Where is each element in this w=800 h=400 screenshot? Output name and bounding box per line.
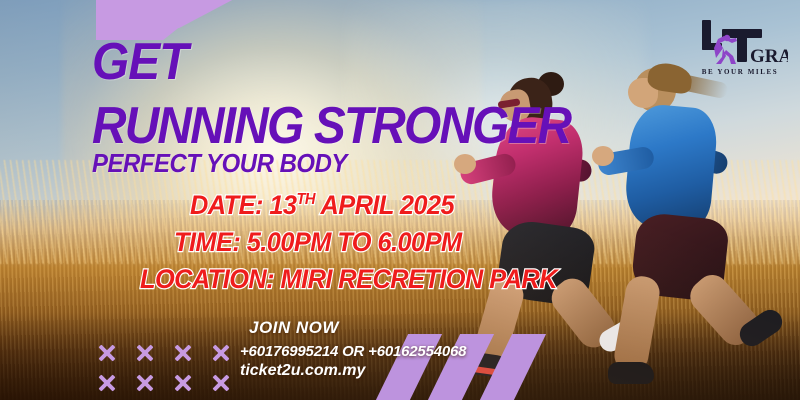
event-date-ordinal: TH — [296, 191, 314, 208]
runner-blue-front-leg — [612, 274, 662, 374]
event-location: LOCATION: MIRI RECRETION PARK — [140, 266, 557, 293]
ticket-website-link[interactable]: ticket2u.com.my — [240, 362, 365, 380]
runner-blue-hand — [592, 146, 614, 166]
x-mark-icon — [88, 338, 126, 368]
runner-figure-blue-icon — [612, 66, 800, 386]
brand-logo[interactable]: GRA BE YOUR MILES — [692, 12, 788, 78]
x-mark-icon — [164, 368, 202, 398]
x-mark-icon — [126, 338, 164, 368]
headline-tagline: PERFECT YOUR BODY — [92, 150, 347, 176]
x-mark-icon — [164, 338, 202, 368]
runner-pink-hand — [454, 154, 476, 174]
x-mark-icon — [126, 368, 164, 398]
running-event-poster: GET RUNNING STRONGER PERFECT YOUR BODY D… — [0, 0, 800, 400]
event-date-month-year: APRIL 2025 — [315, 190, 454, 220]
x-mark-icon — [202, 338, 240, 368]
headline-line-1: GET — [92, 36, 188, 88]
headline-line-2: RUNNING STRONGER — [92, 100, 570, 152]
running-person-icon — [714, 35, 737, 64]
x-mark-grid — [88, 338, 240, 398]
event-date: DATE: 13TH APRIL 2025 — [190, 192, 454, 219]
logo-tagline: BE YOUR MILES — [702, 68, 779, 76]
logo-letter-right: GRA — [750, 46, 788, 67]
x-mark-icon — [202, 368, 240, 398]
diagonal-stripe-icon — [480, 334, 546, 400]
runner-blue-front-shoe — [608, 362, 654, 384]
x-mark-icon — [88, 368, 126, 398]
event-time: TIME: 5.00PM TO 6.00PM — [174, 229, 462, 256]
logo-letters-ra: GRA — [750, 46, 788, 67]
event-date-label: DATE: 13 — [190, 190, 296, 220]
contact-phone-numbers[interactable]: +60176995214 OR +60162554068 — [240, 343, 466, 360]
join-now-cta[interactable]: JOIN NOW — [249, 318, 339, 338]
